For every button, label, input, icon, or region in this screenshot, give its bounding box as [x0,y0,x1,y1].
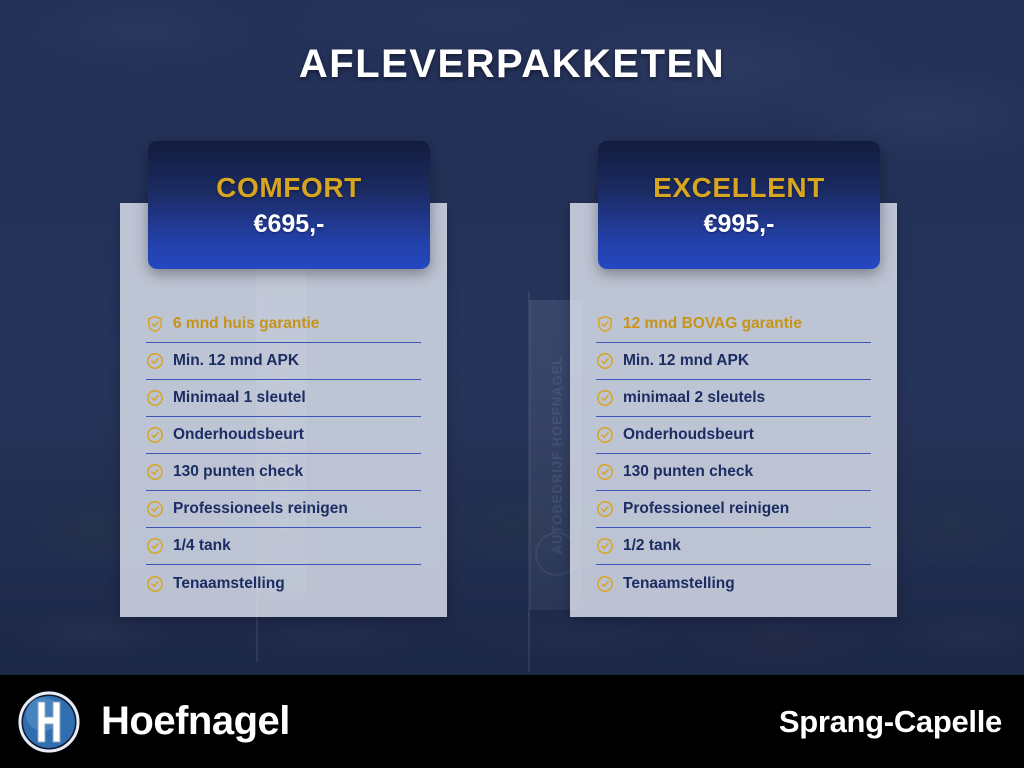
circle-check-icon [596,500,614,518]
circle-check-icon [596,575,614,593]
circle-check-icon [146,389,164,407]
page-title: AFLEVERPAKKETEN [0,42,1024,87]
circle-check-icon [146,426,164,444]
feature-row: Min. 12 mnd APK [146,343,421,380]
package-card-comfort: COMFORT€695,-6 mnd huis garantieMin. 12 … [120,203,447,617]
circle-check-icon [146,500,164,518]
package-price: €995,- [704,210,775,239]
feature-row: 130 punten check [596,454,871,491]
package-price: €695,- [254,210,325,239]
feature-label: Onderhoudsbeurt [173,426,304,444]
feature-row: minimaal 2 sleutels [596,380,871,417]
circle-check-icon [596,463,614,481]
circle-check-icon [596,352,614,370]
circle-check-icon [596,537,614,555]
feature-label: 130 punten check [173,463,303,481]
feature-row: Professioneels reinigen [146,491,421,528]
footer-bar: Hoefnagel Sprang-Capelle [0,675,1024,768]
brand-block: Hoefnagel [17,690,290,754]
feature-label: 6 mnd huis garantie [173,315,319,333]
shield-check-icon [146,315,164,333]
feature-row: Tenaamstelling [146,565,421,602]
feature-label: Professioneels reinigen [173,500,348,518]
feature-label: Professioneel reinigen [623,500,789,518]
feature-row: Minimaal 1 sleutel [146,380,421,417]
feature-label: Tenaamstelling [173,575,285,593]
slide-root: AUTOBEDRIJF HOEFNAGEL AUTOBEDRIJF HOEFNA… [0,0,1024,768]
package-name: COMFORT [216,172,362,204]
circle-check-icon [146,463,164,481]
feature-label: Minimaal 1 sleutel [173,389,306,407]
circle-check-icon [596,389,614,407]
feature-label: 130 punten check [623,463,753,481]
feature-label: 12 mnd BOVAG garantie [623,315,802,333]
hoefnagel-logo-icon [17,690,81,754]
package-header-banner: COMFORT€695,- [148,141,430,269]
package-card-excellent: EXCELLENT€995,-12 mnd BOVAG garantieMin.… [570,203,897,617]
feature-row: Professioneel reinigen [596,491,871,528]
feature-row: Min. 12 mnd APK [596,343,871,380]
feature-row: 1/2 tank [596,528,871,565]
feature-label: Tenaamstelling [623,575,735,593]
feature-label: minimaal 2 sleutels [623,389,765,407]
feature-label: 1/4 tank [173,537,231,555]
feature-row: Onderhoudsbeurt [146,417,421,454]
brand-name: Hoefnagel [101,699,290,744]
feature-list: 12 mnd BOVAG garantieMin. 12 mnd APKmini… [570,306,897,602]
feature-row: Onderhoudsbeurt [596,417,871,454]
package-name: EXCELLENT [653,172,825,204]
circle-check-icon [146,575,164,593]
feature-row: 12 mnd BOVAG garantie [596,306,871,343]
circle-check-icon [146,352,164,370]
feature-row: 130 punten check [146,454,421,491]
feature-label: Min. 12 mnd APK [173,352,299,370]
feature-row: 6 mnd huis garantie [146,306,421,343]
package-header-banner: EXCELLENT€995,- [598,141,880,269]
feature-label: 1/2 tank [623,537,681,555]
location-name: Sprang-Capelle [779,704,1002,740]
circle-check-icon [146,537,164,555]
circle-check-icon [596,426,614,444]
feature-label: Min. 12 mnd APK [623,352,749,370]
feature-row: Tenaamstelling [596,565,871,602]
shield-check-icon [596,315,614,333]
feature-label: Onderhoudsbeurt [623,426,754,444]
feature-row: 1/4 tank [146,528,421,565]
feature-list: 6 mnd huis garantieMin. 12 mnd APKMinima… [120,306,447,602]
